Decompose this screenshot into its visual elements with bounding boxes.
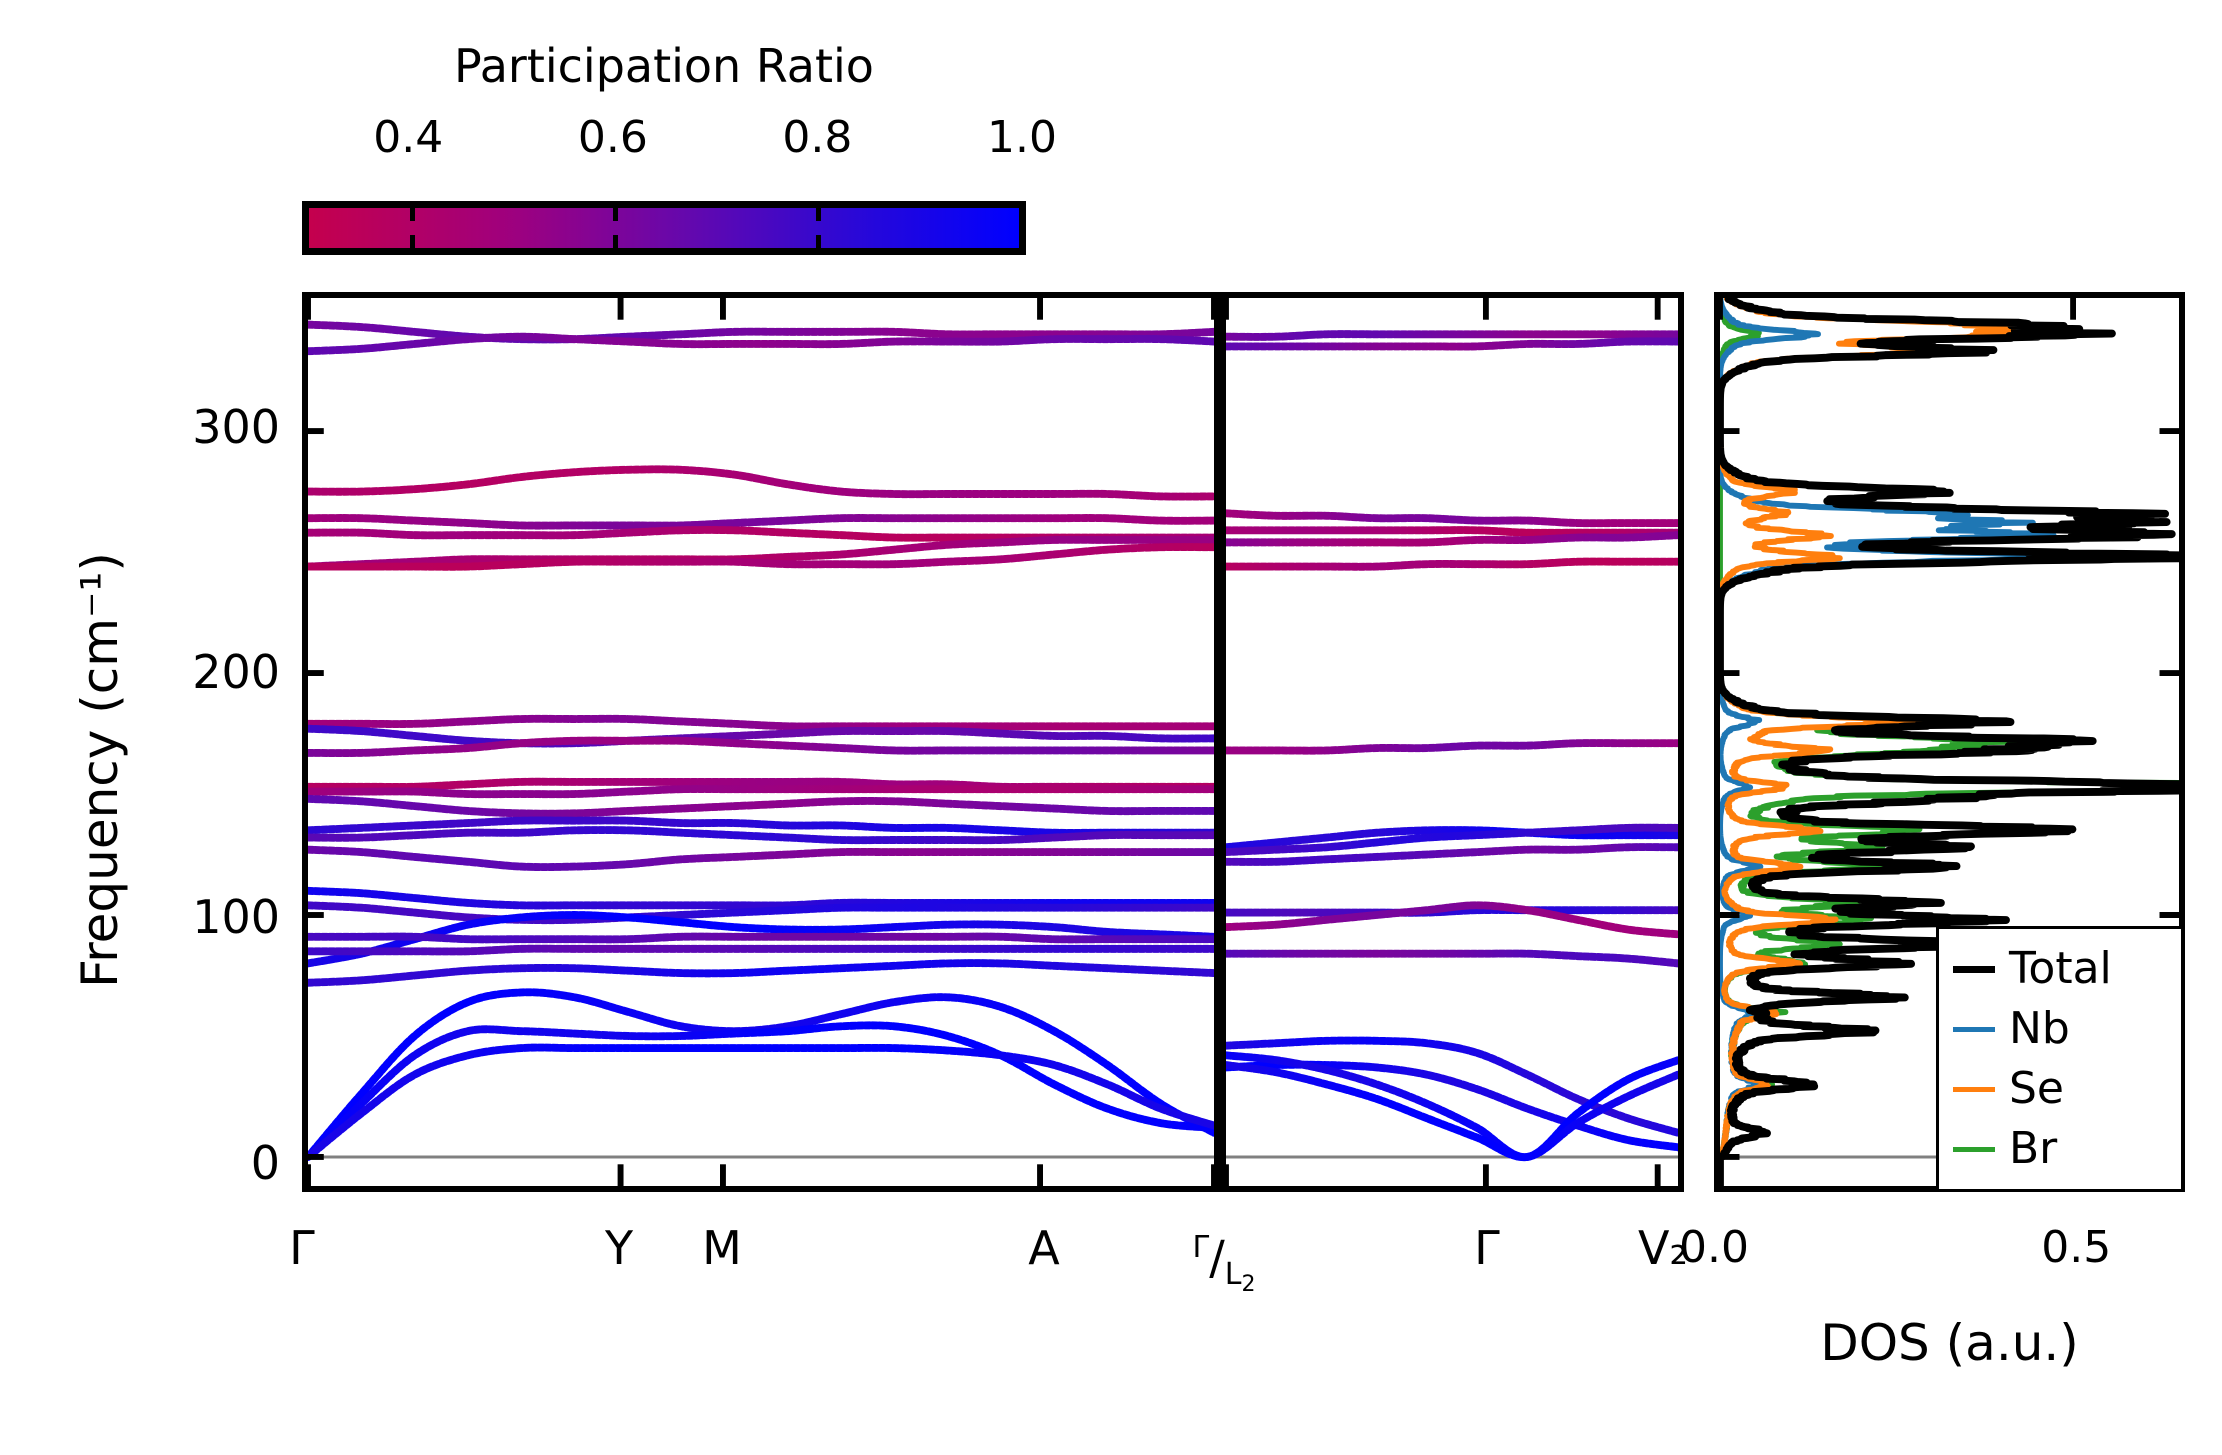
phonon-band [308,719,1214,727]
legend-label: Br [2009,1125,2057,1173]
kpath-tick-label: Y [605,1222,633,1274]
frequency-tick-label: 100 [120,890,280,944]
kpath-tick-label: Γ [289,1222,315,1274]
colorbar-title: Participation Ratio [306,40,1022,92]
band-structure-plot-left [308,298,1214,1186]
phonon-band [308,469,1214,496]
phonon-band-structure-figure: Participation Ratio 0.40.60.81.0 0100200… [0,0,2222,1455]
phonon-band [1226,535,1678,542]
colorbar-tick [816,208,821,221]
phonon-band [308,937,1214,940]
band-structure-plot-right [1226,298,1678,1186]
legend-swatch [1953,1147,1995,1152]
phonon-band [1226,334,1678,337]
colorbar-gradient [309,208,1019,248]
dos-tick-label: 0.0 [1679,1222,1749,1274]
legend-item: Nb [1939,999,2181,1059]
colorbar-tick [613,235,618,248]
dos-legend: TotalNbSeBr [1936,926,2184,1192]
legend-swatch [1953,1087,1995,1092]
frequency-tick-label: 0 [120,1136,280,1190]
legend-item: Br [1939,1119,2181,1179]
band-structure-axes-right [1220,292,1684,1192]
phonon-band [308,963,1214,983]
legend-item: Se [1939,1059,2181,1119]
phonon-band [308,337,1214,352]
frequency-axis-label: Frequency (cm⁻¹) [72,340,128,1200]
phonon-band [308,789,1214,794]
band-structure-axes-left [302,292,1220,1192]
colorbar-tick [410,235,415,248]
legend-swatch [1953,1027,1995,1032]
legend-label: Se [2009,1065,2064,1113]
phonon-band [308,905,1214,920]
legend-label: Total [2009,945,2112,993]
colorbar-tick [816,235,821,248]
phonon-band [308,891,1214,906]
colorbar-tick-labels: 0.40.60.81.0 [306,112,1022,168]
phonon-band [308,949,1214,952]
dos-axis-tick-labels: 0.00.5 [1714,1222,2185,1282]
phonon-band [308,799,1214,814]
phonon-band [308,1048,1214,1157]
dos-axis-label: DOS (a.u.) [1714,1315,2185,1371]
kpath-tick-label: Γ [1474,1222,1500,1274]
phonon-band [1226,341,1678,346]
phonon-band [1226,513,1678,523]
phonon-band [308,850,1214,867]
kpath-tick-label: Γ/L2 [1193,1222,1256,1311]
colorbar-tick-label: 0.4 [373,112,443,164]
frequency-tick-label: 300 [120,400,280,454]
colorbar-tick-label: 1.0 [987,112,1057,164]
legend-label: Nb [2009,1005,2070,1053]
colorbar-tick [613,208,618,221]
frequency-tick-label: 200 [120,645,280,699]
colorbar [302,201,1026,255]
kpath-tick-label: A [1028,1222,1059,1274]
dos-tick-label: 0.5 [2041,1222,2111,1274]
colorbar-tick-label: 0.6 [578,112,648,164]
legend-swatch [1953,966,1995,973]
colorbar-tick-label: 0.8 [782,112,852,164]
phonon-band [1226,530,1678,533]
legend-item: Total [1939,939,2181,999]
colorbar-tick [410,208,415,221]
kpath-tick-label: M [702,1222,742,1274]
phonon-band [308,518,1214,526]
phonon-band [1226,954,1678,964]
phonon-band [1226,562,1678,567]
